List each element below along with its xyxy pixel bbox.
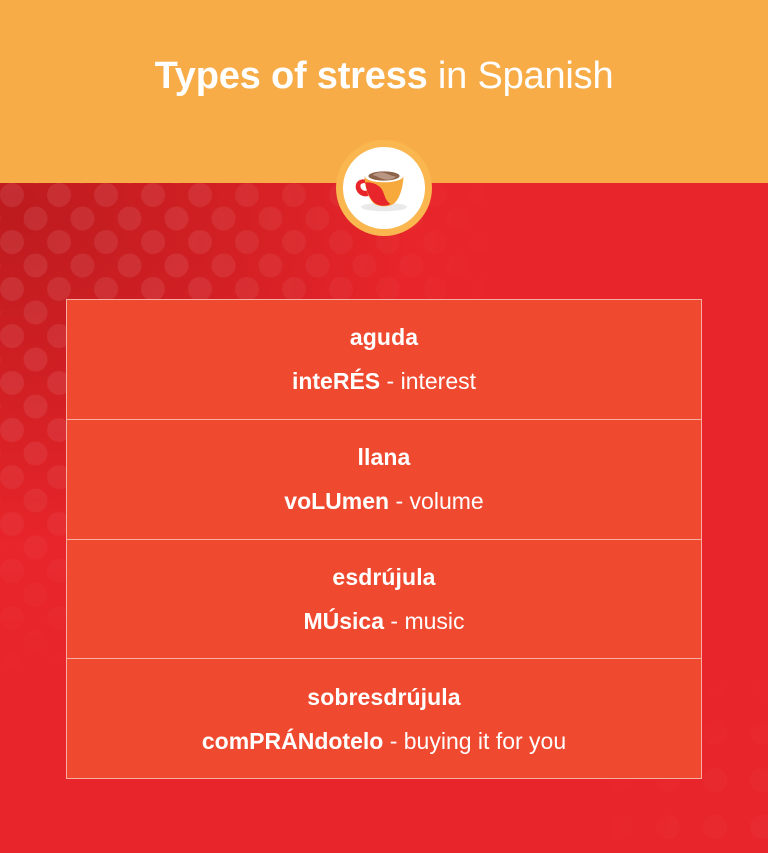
table-row: sobresdrújula comPRÁNdotelo - buying it …	[67, 659, 701, 778]
coffee-cup-icon	[353, 162, 415, 214]
example-word: comPRÁNdotelo	[202, 728, 383, 754]
stress-example: inteRÉS - interest	[292, 366, 476, 396]
example-separator: -	[383, 728, 403, 754]
stress-types-table: aguda inteRÉS - interest llana voLUmen -…	[66, 299, 702, 779]
table-row: aguda inteRÉS - interest	[67, 300, 701, 420]
stress-type-name: aguda	[350, 322, 418, 352]
coffee-badge-disc	[343, 147, 425, 229]
page-title-strong: Types of stress	[155, 55, 428, 97]
stress-type-name: esdrújula	[332, 562, 435, 592]
stress-example: comPRÁNdotelo - buying it for you	[202, 726, 566, 756]
page-title-light: in Spanish	[428, 55, 614, 97]
infographic-poster: Types of stress in Spanish	[0, 0, 768, 853]
example-translation: music	[404, 608, 464, 634]
stress-example: voLUmen - volume	[284, 486, 483, 516]
example-separator: -	[380, 368, 400, 394]
example-translation: buying it for you	[404, 728, 566, 754]
example-separator: -	[384, 608, 404, 634]
example-word: MÚsica	[303, 608, 384, 634]
stress-type-name: sobresdrújula	[307, 682, 460, 712]
page-title: Types of stress in Spanish	[0, 52, 768, 100]
example-translation: volume	[410, 488, 484, 514]
example-word: voLUmen	[284, 488, 389, 514]
coffee-badge	[336, 140, 432, 236]
table-row: esdrújula MÚsica - music	[67, 540, 701, 660]
example-translation: interest	[401, 368, 476, 394]
stress-type-name: llana	[358, 442, 411, 472]
table-row: llana voLUmen - volume	[67, 420, 701, 540]
example-separator: -	[389, 488, 409, 514]
example-word: inteRÉS	[292, 368, 380, 394]
stress-example: MÚsica - music	[303, 606, 464, 636]
